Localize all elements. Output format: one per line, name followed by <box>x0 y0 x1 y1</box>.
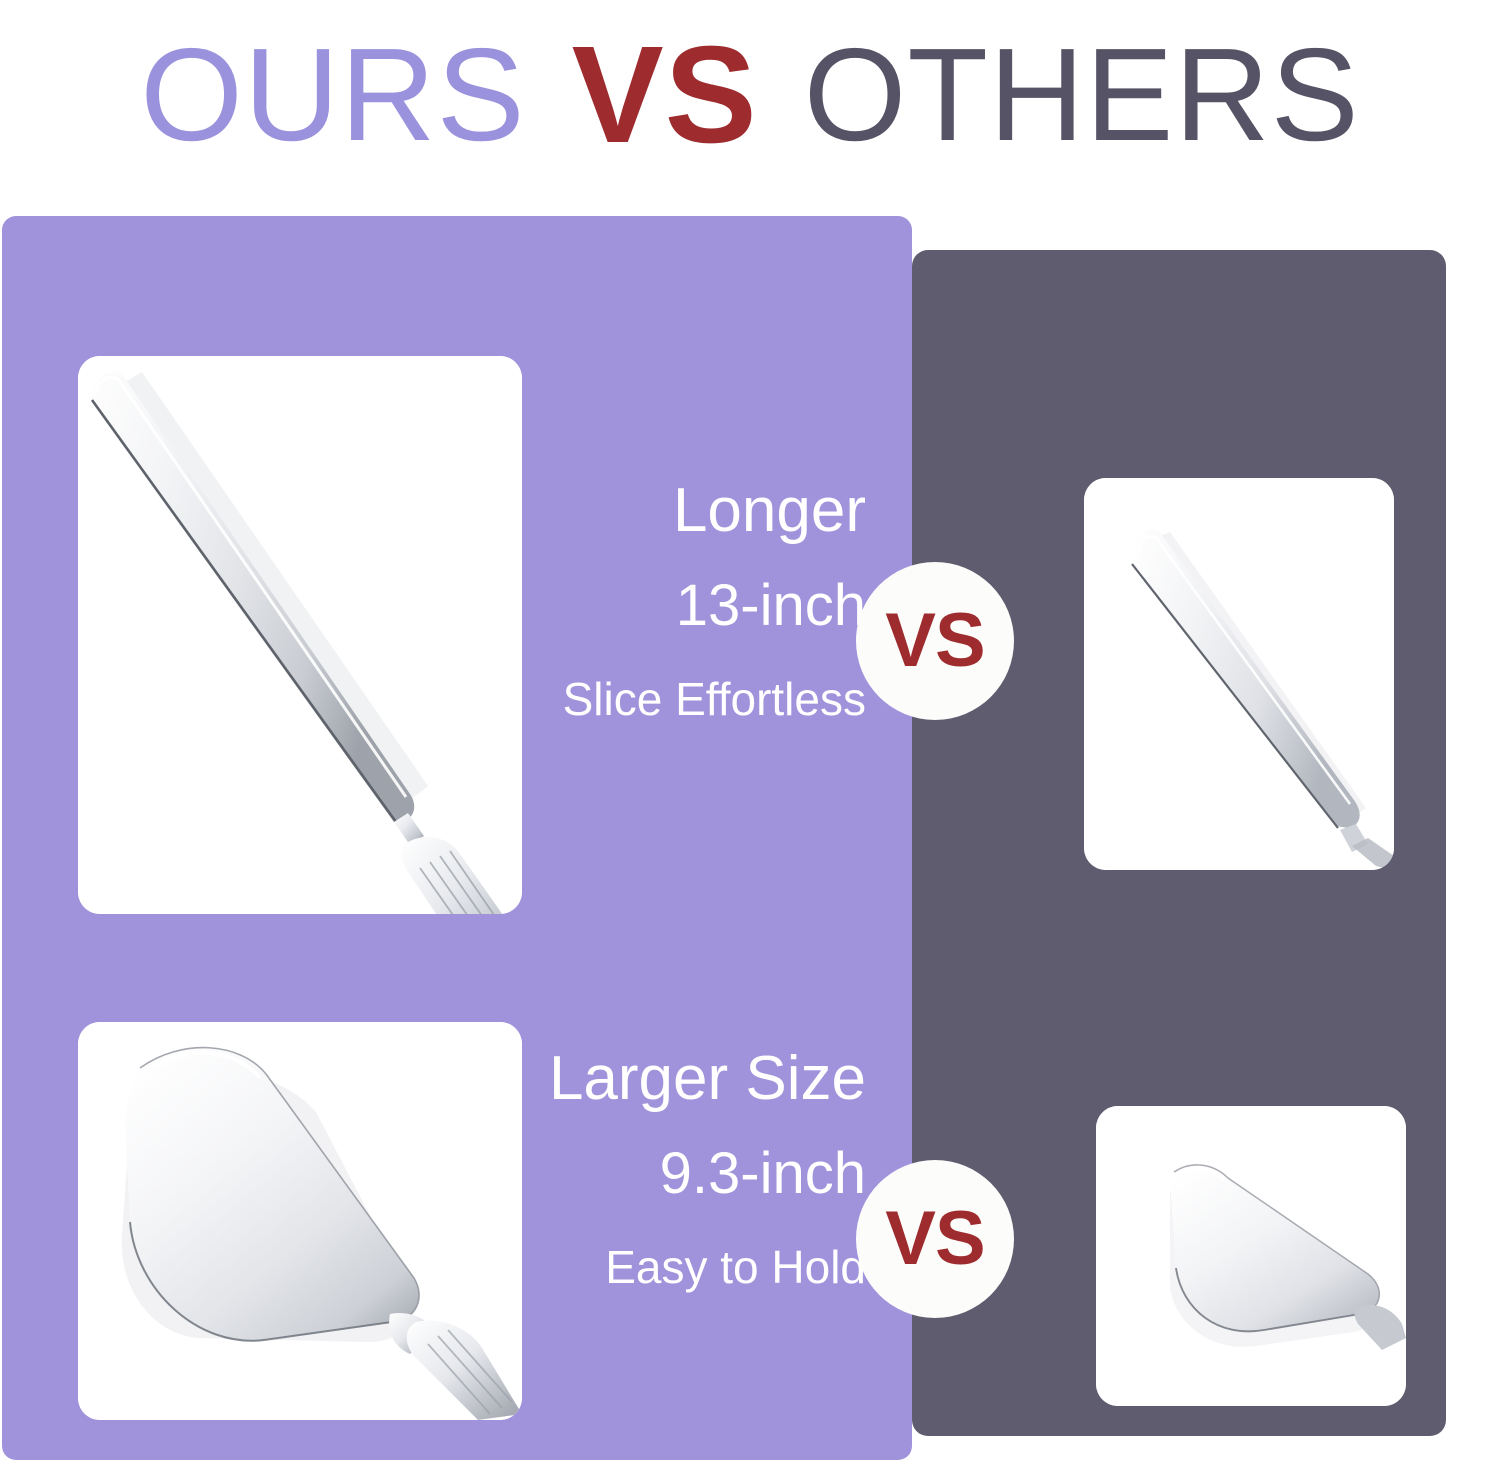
product-card-server-others <box>1096 1106 1406 1406</box>
product-card-server-ours <box>78 1022 522 1420</box>
feature-block-server-size: Larger Size 9.3-inch Easy to Hold <box>466 1046 866 1292</box>
title-ours: OURS <box>140 29 525 161</box>
vs-badge-label: VS <box>885 603 984 679</box>
vs-badge-top: VS <box>856 562 1014 720</box>
feature-size: 9.3-inch <box>466 1143 866 1206</box>
vs-badge-label: VS <box>885 1201 984 1277</box>
feature-title: Longer <box>466 478 866 545</box>
feature-size: 13-inch <box>466 575 866 638</box>
product-card-knife-others <box>1084 478 1394 870</box>
comparison-infographic: OURS VS OTHERS <box>0 0 1500 1467</box>
product-card-knife-ours <box>78 356 522 914</box>
feature-block-length: Longer 13-inch Slice Effortless <box>466 478 866 724</box>
cake-knife-long-image <box>78 356 522 914</box>
cake-knife-short-image <box>1084 478 1394 870</box>
cake-server-small-image <box>1096 1106 1406 1406</box>
feature-subtitle: Slice Effortless <box>466 674 866 725</box>
feature-title: Larger Size <box>466 1046 866 1113</box>
title-vs: VS <box>572 26 758 164</box>
cake-server-large-image <box>78 1022 522 1420</box>
title-others: OTHERS <box>804 29 1360 161</box>
vs-badge-bottom: VS <box>856 1160 1014 1318</box>
page-title: OURS VS OTHERS <box>0 0 1500 190</box>
feature-subtitle: Easy to Hold <box>466 1242 866 1293</box>
